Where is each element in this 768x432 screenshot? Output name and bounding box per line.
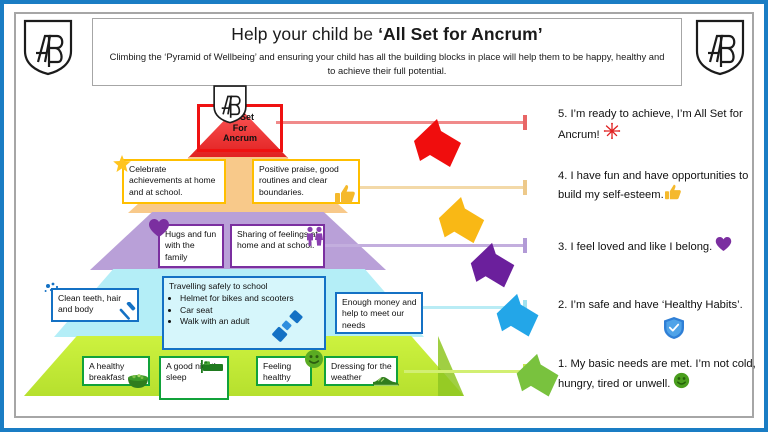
- thumbs-up-icon-tier4: [334, 184, 356, 204]
- box-enough-money: Enough money and help to meet our needs: [335, 292, 423, 334]
- blue-shield-icon: [663, 316, 685, 340]
- connector-line-1: [404, 370, 526, 373]
- statement-5: 5. I’m ready to achieve, I’m All Set for…: [558, 107, 758, 143]
- tier-1-shadow-edge: [438, 336, 464, 396]
- statement-3-text: 3. I feel loved and like I belong.: [558, 241, 715, 253]
- arrow-green: [514, 352, 562, 402]
- shield-logo-pyramid-peak: [212, 84, 248, 124]
- header-banner: Help your child be ‘All Set for Ancrum’ …: [92, 18, 682, 86]
- connector-tick-3: [523, 238, 527, 253]
- shield-logo-left: [22, 18, 74, 76]
- heart-icon: [148, 218, 170, 238]
- connector-line-5: [276, 121, 526, 124]
- arrow-blue: [494, 292, 542, 342]
- apex-line-3: Ancrum: [223, 133, 257, 144]
- arrow-red: [411, 117, 465, 173]
- cereal-bowl-icon: [126, 370, 150, 390]
- thumbs-up-icon-statement: [664, 184, 682, 200]
- toothbrush-brush-icon: [116, 302, 142, 326]
- box-healthy-breakfast-text: A healthy breakfast: [89, 361, 124, 382]
- page-title-plain: Help your child be: [231, 24, 378, 44]
- connector-tick-5: [523, 115, 527, 130]
- box-enough-money-text: Enough money and help to meet our needs: [342, 297, 417, 330]
- page-title: Help your child be ‘All Set for Ancrum’: [93, 24, 681, 46]
- smiley-icon: [304, 349, 324, 369]
- statement-2: 2. I’m safe and have ‘Healthy Habits’.: [558, 298, 758, 313]
- box-travelling-safely-title: Travelling safely to school: [169, 281, 320, 292]
- statement-2-text: 2. I’m safe and have ‘Healthy Habits’.: [558, 299, 743, 311]
- page-title-strong: ‘All Set for Ancrum’: [378, 24, 543, 44]
- fireworks-icon: [603, 122, 621, 140]
- shoes-icon: [372, 372, 400, 388]
- box-hugs-and-fun-text: Hugs and fun with the family: [165, 229, 216, 262]
- toothbrush-icon: [44, 282, 70, 298]
- family-icon: [304, 226, 326, 246]
- statement-5-text: 5. I’m ready to achieve, I’m All Set for…: [558, 108, 743, 141]
- purple-heart-icon: [715, 236, 732, 252]
- arrow-purple: [468, 241, 518, 293]
- poster-root: Help your child be ‘All Set for Ancrum’ …: [0, 0, 768, 432]
- green-smiley-icon: [673, 372, 690, 389]
- statement-1: 1. My basic needs are met. I’m not cold,…: [558, 357, 758, 392]
- statement-4: 4. I have fun and have opportunities to …: [558, 169, 758, 203]
- statement-1-text: 1. My basic needs are met. I’m not cold,…: [558, 358, 756, 390]
- statement-4-text: 4. I have fun and have opportunities to …: [558, 170, 748, 201]
- bed-icon: [200, 358, 226, 374]
- statement-3: 3. I feel loved and like I belong.: [558, 236, 758, 255]
- box-positive-praise-text: Positive praise, good routines and clear…: [259, 164, 339, 197]
- star-icon: [112, 154, 132, 174]
- page-subtitle: Climbing the ‘Pyramid of Wellbeing’ and …: [93, 50, 681, 77]
- shield-logo-right: [694, 18, 746, 76]
- apex-line-2: For: [233, 123, 248, 134]
- box-feeling-healthy-text: Feeling healthy: [263, 361, 291, 382]
- car-seat-icon: [272, 310, 306, 344]
- bullet-helmet: Helmet for bikes and scooters: [180, 293, 320, 304]
- box-celebrate-achievements: Celebrate achievements at home and at sc…: [122, 159, 226, 204]
- box-celebrate-achievements-text: Celebrate achievements at home and at sc…: [129, 164, 215, 197]
- connector-tick-4: [523, 180, 527, 195]
